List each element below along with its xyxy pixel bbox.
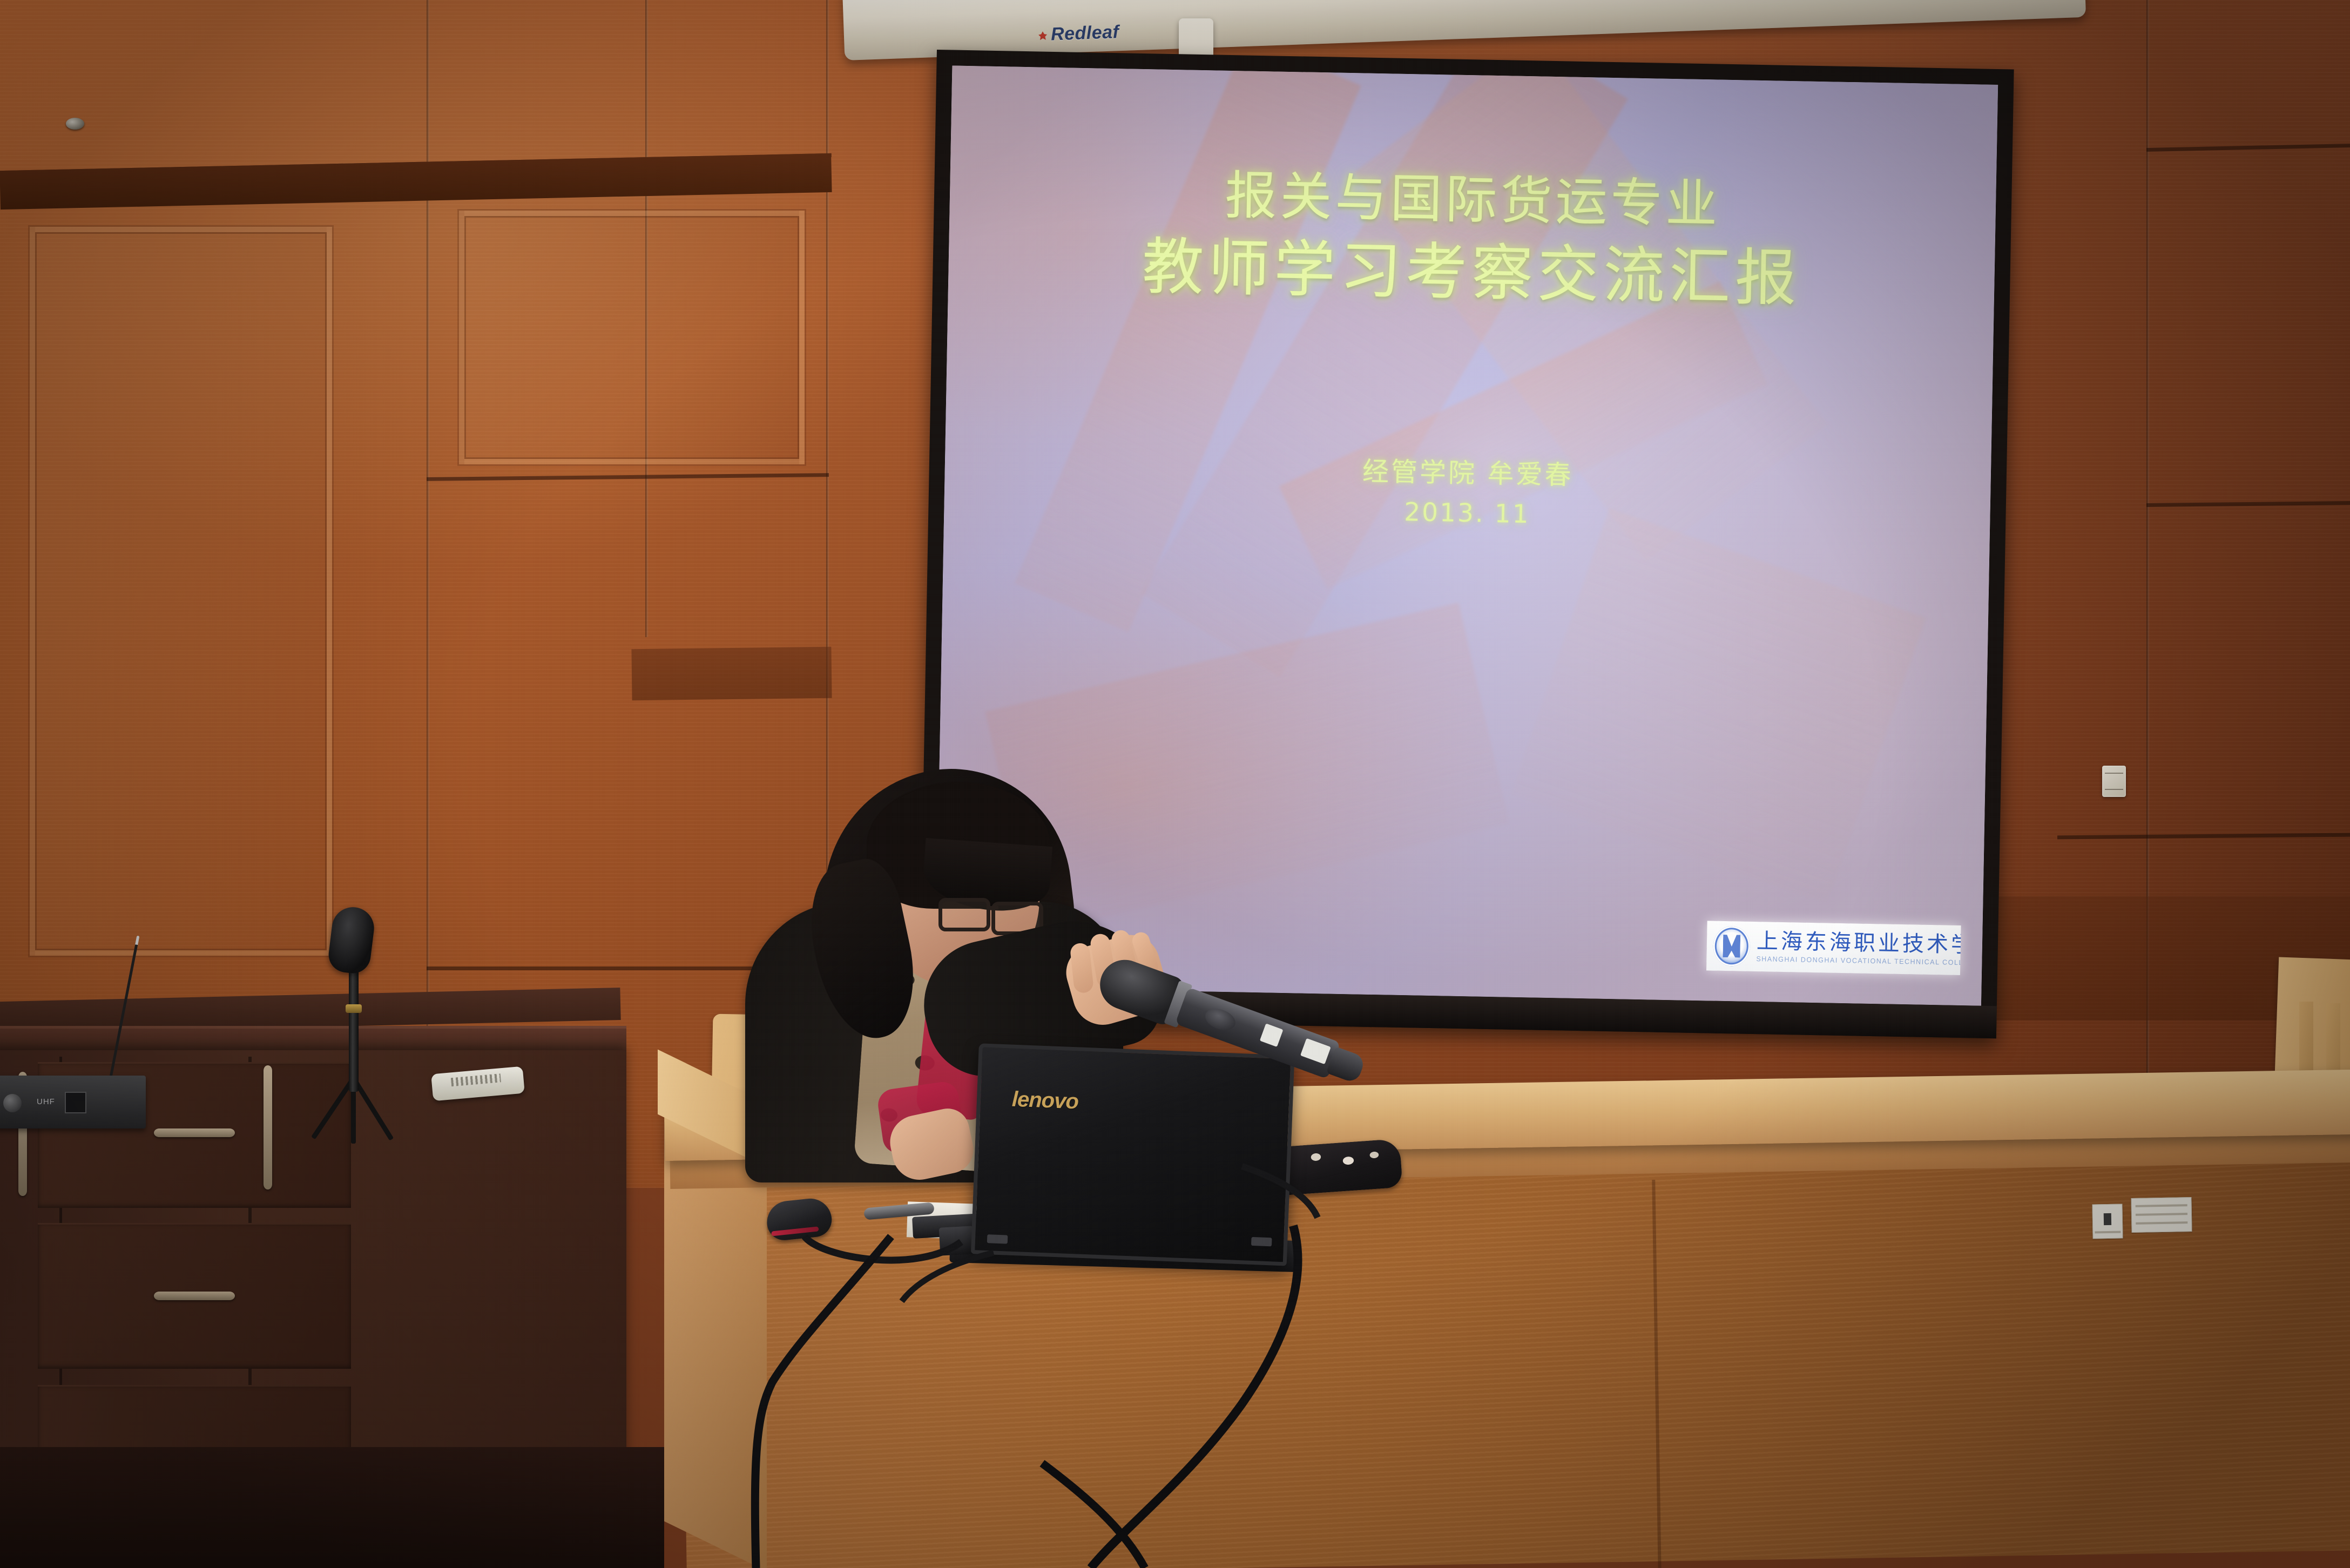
sticker-line	[2135, 1204, 2187, 1207]
laptop[interactable]: lenovo	[971, 1043, 1295, 1266]
cabinet-drawer[interactable]	[38, 1223, 351, 1369]
finger	[1070, 942, 1094, 993]
sticker-mark	[2104, 1213, 2111, 1225]
wall-shadow-band	[631, 647, 832, 701]
glasses-left-lens	[938, 898, 990, 931]
drawer-handle[interactable]	[154, 1292, 235, 1300]
sticker-line	[2136, 1213, 2188, 1216]
asset-sticker	[2131, 1197, 2192, 1233]
college-emblem-icon	[1713, 926, 1750, 967]
college-logo-texts: 上海东海职业技术学院 SHANGHAI DONGHAI VOCATIONAL T…	[1756, 930, 1954, 967]
mic-stand-pole	[349, 957, 359, 1092]
college-name-chinese: 上海东海职业技术学院	[1757, 930, 1955, 956]
laptop-brand-label: lenovo	[1011, 1087, 1079, 1114]
college-logo-bar: 上海东海职业技术学院 SHANGHAI DONGHAI VOCATIONAL T…	[1706, 921, 1961, 975]
light-switch-plate[interactable]	[2102, 766, 2126, 797]
cabinet-door-handle[interactable]	[264, 1065, 272, 1189]
laptop-lid-bumper	[987, 1234, 1008, 1243]
asset-sticker	[2092, 1204, 2123, 1239]
projector-screen-brand-label: Redleaf	[1038, 22, 1119, 45]
wall-metal-fitting	[66, 118, 84, 130]
wall-recessed-panel	[459, 211, 805, 464]
cable-ferrite-bead	[939, 1226, 975, 1255]
receiver-knob[interactable]	[3, 1094, 22, 1112]
wall-recessed-panel	[30, 227, 332, 956]
receiver-display	[65, 1092, 86, 1113]
laptop-lid-bumper	[1251, 1237, 1272, 1246]
redleaf-logo-icon	[1038, 31, 1048, 40]
glasses-bridge	[988, 906, 998, 910]
drawer-handle[interactable]	[154, 1128, 235, 1137]
slide-title-block: 报关与国际货运专业 教师学习考察交流汇报	[948, 157, 1996, 321]
sticker-line	[2136, 1221, 2188, 1225]
mic-stand-collar	[346, 1004, 362, 1013]
uhf-wireless-receiver[interactable]: UHF	[0, 1076, 146, 1128]
floor-shadow	[0, 1447, 664, 1568]
remote-keys	[451, 1073, 501, 1086]
sticker-line	[2095, 1231, 2121, 1234]
lecture-hall-photo: Redleaf 报关与国际货运专业 教师学习考察交流汇报 经管学院 牟爱春 20…	[0, 0, 2350, 1568]
receiver-uhf-label: UHF	[37, 1097, 55, 1106]
